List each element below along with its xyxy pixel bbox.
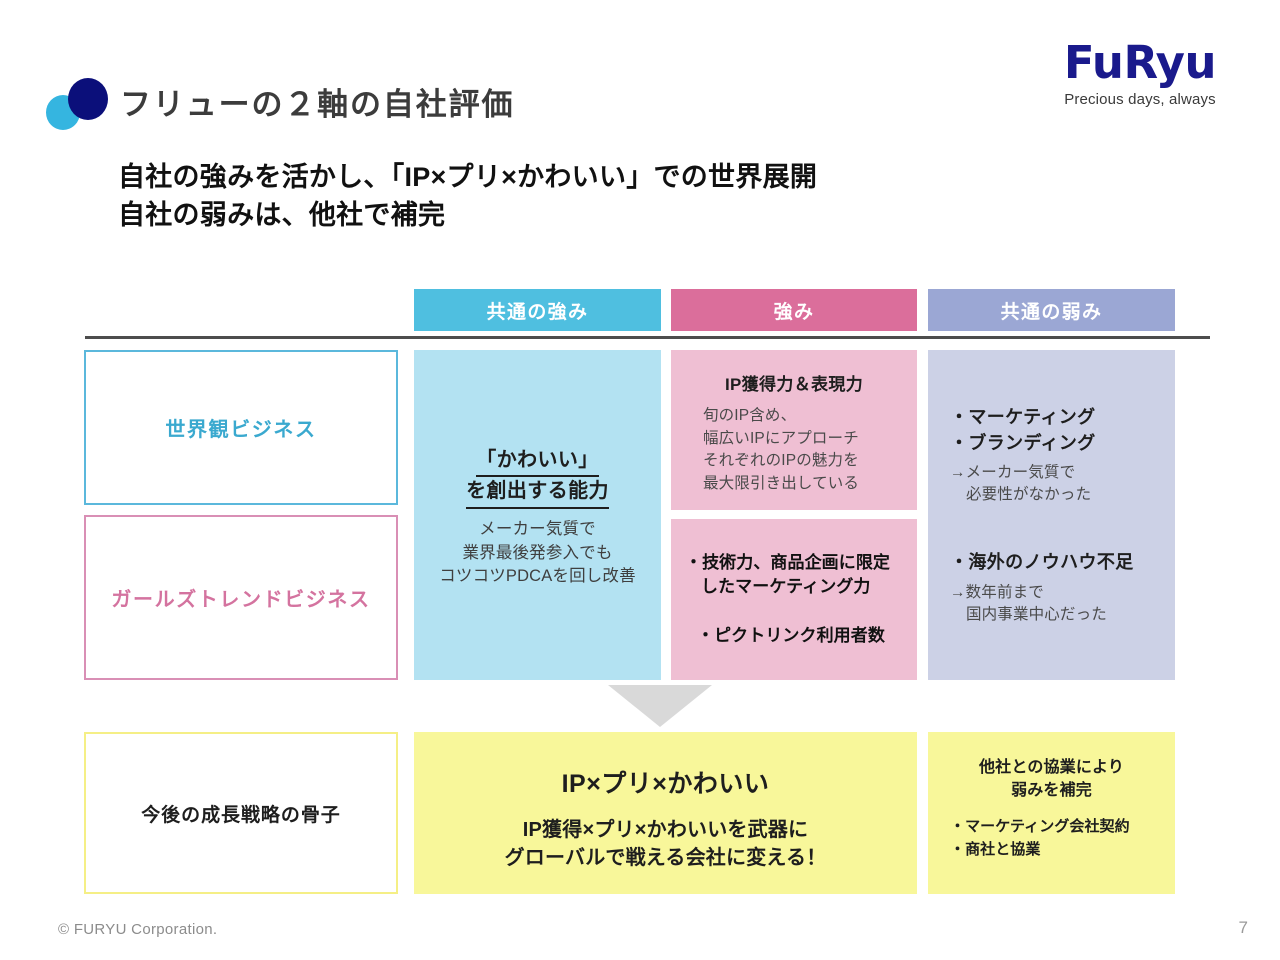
cell-common-strength: 「かわいい」 を創出する能力 メーカー気質で 業界最後発参入でも コツコツPDC…	[414, 350, 661, 680]
logo-mark	[46, 78, 118, 130]
brand-tagline: Precious days, always	[1040, 91, 1240, 108]
column-header-common-weakness: 共通の弱み	[928, 289, 1175, 331]
strength-top-body-line-4: 最大限引き出している	[703, 473, 917, 496]
common-strength-heading-line-2: を創出する能力	[466, 477, 609, 508]
column-header-strength: 強み	[671, 289, 917, 331]
cell-strength-top: IP獲得力＆表現力 旬のIP含め、 幅広いIPにアプローチ それぞれのIPの魅力…	[671, 350, 917, 510]
strength-top-heading: IP獲得力＆表現力	[671, 350, 917, 395]
weakness-top-bullet-2: ・ブランディング	[950, 431, 1175, 457]
partnership-heading-line-2: 弱みを補完	[928, 779, 1175, 802]
common-strength-heading-line-1: 「かわいい」	[476, 446, 598, 477]
weakness-bottom-note: →数年前まで 国内事業中心だった	[950, 582, 1175, 626]
cell-common-weakness: ・マーケティング ・ブランディング →メーカー気質で 必要性がなかった ・海外の…	[928, 350, 1175, 680]
weakness-block-bottom: ・海外のノウハウ不足 →数年前まで 国内事業中心だった	[928, 506, 1175, 626]
row-label-text: ガールズトレンドビジネス	[111, 583, 370, 612]
strength-bottom-bullet-1-line-1: ・技術力、商品企画に限定	[685, 551, 917, 575]
partnership-box: 他社との協業により 弱みを補完 ・マーケティング会社契約 ・商社と協業	[928, 732, 1175, 894]
common-strength-body-line-3: コツコツPDCAを回し改善	[414, 565, 661, 589]
partnership-item-1: ・マーケティング会社契約	[950, 816, 1175, 839]
logo-navy-circle-icon	[68, 78, 108, 120]
strength-top-body-line-3: それぞれのIPの魅力を	[703, 450, 917, 473]
strength-top-body-line-2: 幅広いIPにアプローチ	[703, 428, 917, 451]
weakness-top-heading: ・マーケティング ・ブランディング	[950, 405, 1175, 456]
growth-strategy-label: 今後の成長戦略の骨子	[141, 800, 341, 827]
common-strength-body: メーカー気質で 業界最後発参入でも コツコツPDCAを回し改善	[414, 518, 661, 589]
footer-page-number: 7	[1239, 918, 1248, 938]
weakness-top-note-line-1: →メーカー気質で	[950, 462, 1175, 484]
common-strength-body-line-1: メーカー気質で	[414, 518, 661, 542]
weakness-bottom-note-line-1: →数年前まで	[950, 582, 1175, 604]
cell-strength-bottom: ・技術力、商品企画に限定 したマーケティング力 ・ピクトリンク利用者数	[671, 519, 917, 680]
weakness-block-top: ・マーケティング ・ブランディング →メーカー気質で 必要性がなかった	[928, 350, 1175, 506]
weakness-bottom-note-line-2: 国内事業中心だった	[950, 604, 1175, 626]
brand-logo: FuRyu Precious days, always	[1040, 40, 1240, 108]
weakness-top-note: →メーカー気質で 必要性がなかった	[950, 462, 1175, 506]
weakness-top-note-line-2: 必要性がなかった	[950, 484, 1175, 506]
common-strength-body-line-2: 業界最後発参入でも	[414, 542, 661, 566]
partnership-heading-line-1: 他社との協業により	[928, 756, 1175, 779]
partnership-item-2: ・商社と協業	[950, 839, 1175, 862]
column-header-common-strength: 共通の強み	[414, 289, 661, 331]
page-title: フリューの２軸の自社評価	[120, 79, 514, 124]
strength-top-body: 旬のIP含め、 幅広いIPにアプローチ それぞれのIPの魅力を 最大限引き出して…	[671, 405, 917, 496]
strategy-body-line-1: IP獲得×プリ×かわいいを武器に	[414, 816, 917, 844]
subtitle-line-2: 自社の弱みは、他社で補完	[118, 196, 817, 234]
slide-subtitle: 自社の強みを活かし、「IP×プリ×かわいい」での世界展開 自社の弱みは、他社で補…	[118, 158, 817, 235]
horizontal-divider	[85, 336, 1210, 339]
subtitle-line-1: 自社の強みを活かし、「IP×プリ×かわいい」での世界展開	[118, 158, 817, 196]
partnership-heading: 他社との協業により 弱みを補完	[928, 732, 1175, 802]
growth-strategy-label-box: 今後の成長戦略の骨子	[84, 732, 398, 894]
common-strength-heading: 「かわいい」 を創出する能力	[414, 446, 661, 509]
strategy-body-line-2: グローバルで戦える会社に変える！	[414, 844, 917, 872]
footer-copyright: © FURYU Corporation.	[58, 921, 217, 938]
slide-root: フリューの２軸の自社評価 FuRyu Precious days, always…	[0, 0, 1280, 960]
row-label-girls-trend-business: ガールズトレンドビジネス	[84, 515, 398, 680]
strength-bottom-bullet-1-line-2: したマーケティング力	[685, 575, 917, 599]
weakness-bottom-heading: ・海外のノウハウ不足	[950, 550, 1175, 576]
down-arrow-icon	[608, 685, 712, 727]
strategy-statement-box: IP×プリ×かわいい IP獲得×プリ×かわいいを武器に グローバルで戦える会社に…	[414, 732, 917, 894]
row-label-worldview-business: 世界観ビジネス	[84, 350, 398, 505]
row-label-text: 世界観ビジネス	[165, 413, 316, 442]
strategy-heading: IP×プリ×かわいい	[414, 732, 917, 800]
strength-bottom-bullet-2: ・ピクトリンク利用者数	[685, 624, 917, 648]
strategy-body: IP獲得×プリ×かわいいを武器に グローバルで戦える会社に変える！	[414, 816, 917, 873]
partnership-items: ・マーケティング会社契約 ・商社と協業	[928, 816, 1175, 861]
strength-bottom-body: ・技術力、商品企画に限定 したマーケティング力 ・ピクトリンク利用者数	[671, 519, 917, 647]
brand-wordmark: FuRyu	[1040, 40, 1240, 85]
weakness-top-bullet-1: ・マーケティング	[950, 405, 1175, 431]
strength-top-body-line-1: 旬のIP含め、	[703, 405, 917, 428]
